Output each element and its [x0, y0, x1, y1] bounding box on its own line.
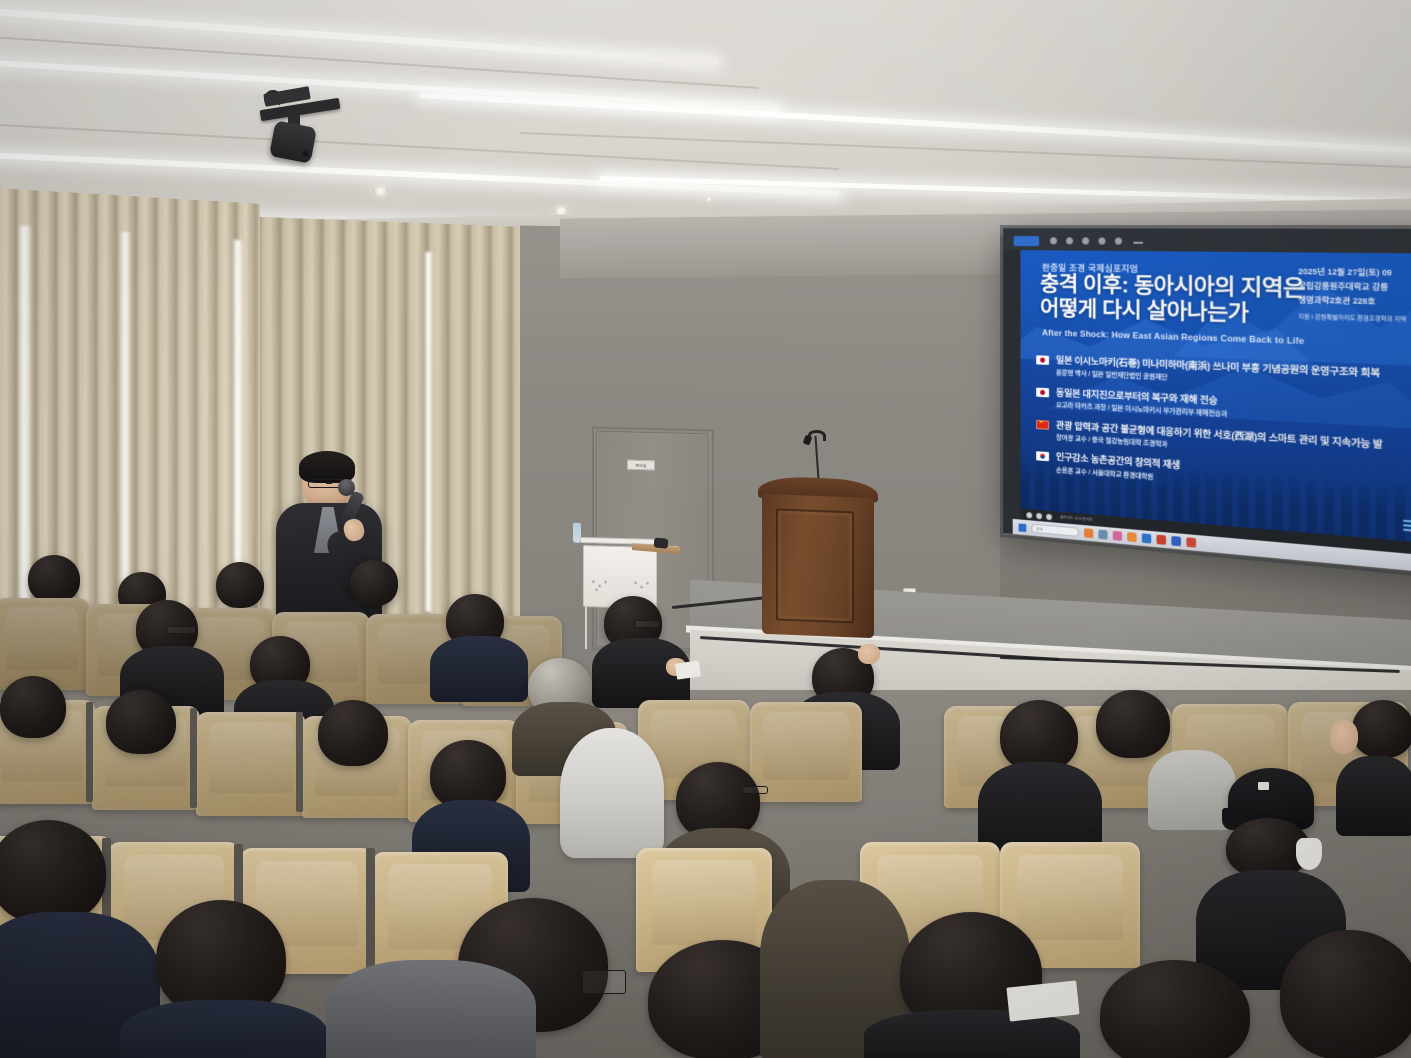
- japan-flag-icon: [1036, 355, 1049, 365]
- app-icon[interactable]: [1186, 537, 1196, 547]
- audience-torso: [1336, 756, 1411, 836]
- toolbar-dot-icon[interactable]: [1082, 237, 1089, 244]
- audience-hand: [858, 644, 880, 664]
- audience-torso: [430, 636, 528, 702]
- ceiling-light-strip: [420, 92, 1411, 155]
- app-icon[interactable]: [1171, 536, 1181, 546]
- cap-logo-icon: [1258, 782, 1269, 790]
- status-icon[interactable]: [1046, 513, 1052, 520]
- audience-head: [0, 820, 106, 924]
- taskbar-search-input[interactable]: 검색: [1031, 524, 1079, 537]
- lectern-panel: [776, 508, 854, 623]
- lectern-body: [762, 494, 874, 638]
- ceiling-projector: [258, 84, 344, 160]
- glasses-icon: [582, 970, 626, 994]
- glasses-icon: [166, 626, 196, 634]
- audience-torso: [326, 960, 536, 1058]
- korea-flag-icon: [1036, 452, 1049, 462]
- status-icon[interactable]: [1026, 511, 1032, 518]
- toolbar-dot-icon[interactable]: [1066, 237, 1073, 244]
- paper-handout: [1006, 980, 1079, 1021]
- glasses-icon: [634, 620, 660, 628]
- japan-flag-icon: [1036, 387, 1049, 397]
- audience-head: [350, 560, 398, 606]
- door-sign: 회의실: [627, 460, 655, 471]
- seat[interactable]: [0, 598, 90, 690]
- wall-light-gap: [120, 232, 131, 623]
- audience-head: [0, 676, 66, 738]
- seat[interactable]: [196, 712, 306, 816]
- face-mask: [1296, 838, 1322, 870]
- ceiling-panel-line: [520, 132, 1411, 169]
- audience-head: [1280, 930, 1411, 1058]
- hooded-audience-member: [560, 728, 664, 858]
- china-flag-icon: [1036, 420, 1049, 430]
- slide-meta-block: 2025년 12월 2?일(토) 09 국립강릉원주대학교 강릉 생명과학2호관…: [1298, 265, 1411, 327]
- minimize-icon[interactable]: [1133, 242, 1142, 244]
- wall-light-gap: [424, 252, 433, 612]
- audience-head: [318, 700, 388, 766]
- ceiling-downlight: [705, 196, 713, 202]
- slide-content: 한중일 조경 국제심포지엄 충격 이후: 동아시아의 지역은 어떻게 다시 살아…: [1020, 250, 1411, 545]
- ceiling-light-strip: [0, 58, 779, 113]
- status-bar-text: 슬라이드 1/24 한국어: [1060, 515, 1092, 523]
- audience-torso: [120, 1000, 328, 1058]
- audience-head: [106, 690, 176, 754]
- powerpoint-icon[interactable]: [1157, 535, 1167, 545]
- auditorium-photo-scene: 회의실 한중일 조경 국제심포지엄 충격 이후: 동아시아의 지역은 어떻게 다…: [0, 0, 1411, 1058]
- start-button-icon[interactable]: [1019, 523, 1027, 532]
- ceiling-light-strip: [0, 150, 839, 197]
- app-icon[interactable]: [1127, 532, 1136, 542]
- institution-logo-icon: [1403, 516, 1411, 536]
- glasses-icon: [742, 786, 768, 794]
- raised-hand: [1330, 720, 1358, 754]
- toolbar-dot-icon[interactable]: [1115, 237, 1122, 244]
- toolbar-dot-icon[interactable]: [1050, 237, 1057, 244]
- toolbar-dot-icon[interactable]: [1098, 237, 1105, 244]
- paper-handout: [675, 660, 701, 679]
- file-explorer-icon[interactable]: [1084, 528, 1093, 538]
- edge-icon[interactable]: [1098, 529, 1107, 539]
- status-icon[interactable]: [1036, 512, 1042, 519]
- ceiling-light-strip: [0, 6, 718, 66]
- cart-equipment: [654, 537, 669, 548]
- window-badge-icon: [1014, 236, 1039, 246]
- audience-head: [28, 555, 80, 603]
- slide-meta-room: 생명과학2호관 228호: [1298, 294, 1411, 312]
- audience-head: [1352, 700, 1411, 758]
- slide-logo: 국립: [1403, 516, 1411, 537]
- projection-screen[interactable]: 한중일 조경 국제심포지엄 충격 이후: 동아시아의 지역은 어떻게 다시 살아…: [1003, 228, 1411, 575]
- ceiling-downlight: [372, 186, 389, 196]
- wall-light-gap: [18, 226, 32, 627]
- chrome-icon[interactable]: [1113, 531, 1122, 541]
- lectern: [762, 476, 874, 638]
- audience-head: [1096, 690, 1170, 758]
- audience-head: [216, 562, 264, 608]
- word-icon[interactable]: [1142, 533, 1151, 543]
